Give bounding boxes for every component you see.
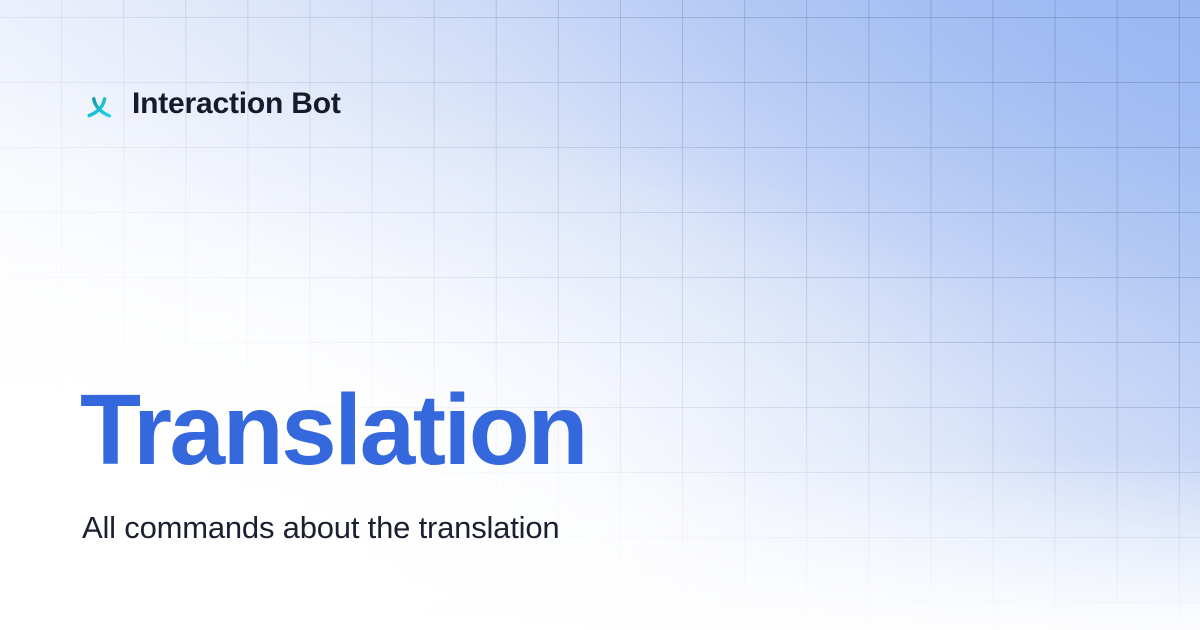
brand-name: Interaction Bot (132, 89, 341, 119)
translate-cjk-icon (82, 87, 116, 121)
brand-lockup: Interaction Bot (82, 80, 341, 128)
og-card: Interaction Bot Translation All commands… (0, 0, 1200, 630)
card-content: Interaction Bot Translation All commands… (0, 0, 1200, 630)
page-title: Translation (80, 380, 586, 480)
page-subtitle: All commands about the translation (82, 509, 559, 548)
